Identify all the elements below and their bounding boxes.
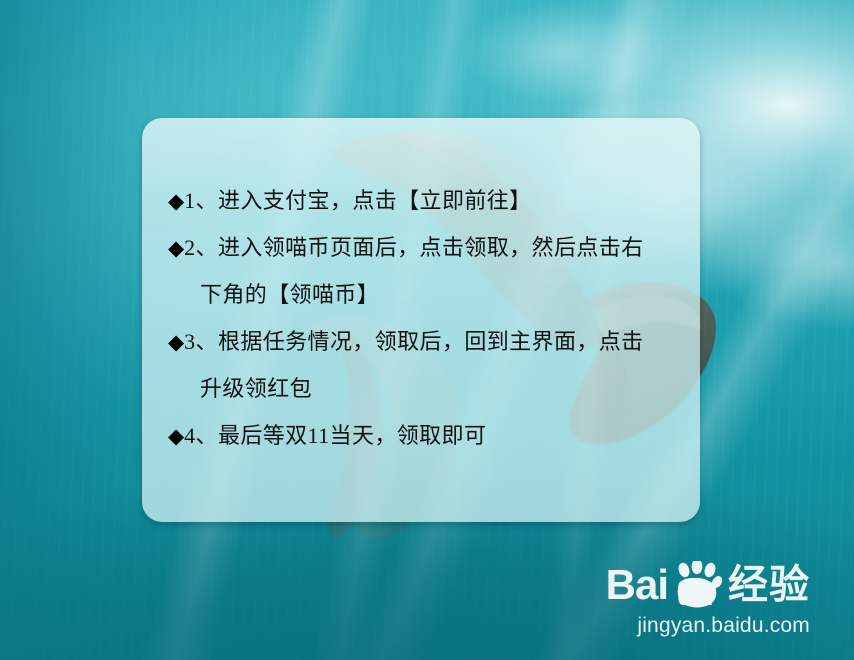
- diamond-bullet-icon: ◆: [168, 227, 184, 269]
- step-text: 4、最后等双11当天，领取即可: [184, 415, 674, 457]
- list-item: ◆ 3、根据任务情况，领取后，回到主界面，点击: [142, 321, 700, 363]
- diamond-bullet-icon: ◆: [168, 180, 184, 222]
- step-continuation: 下角的【领喵币】: [142, 274, 700, 316]
- step-text: 3、根据任务情况，领取后，回到主界面，点击: [184, 321, 674, 363]
- list-item: ◆ 2、进入领喵币页面后，点击领取，然后点击右: [142, 227, 700, 269]
- step-continuation: 升级领红包: [142, 368, 700, 410]
- slide-canvas: ◆ 1、进入支付宝，点击【立即前往】 ◆ 2、进入领喵币页面后，点击领取，然后点…: [0, 0, 854, 660]
- diamond-bullet-icon: ◆: [168, 415, 184, 457]
- step-text: 2、进入领喵币页面后，点击领取，然后点击右: [184, 227, 674, 269]
- step-text-continued: 下角的【领喵币】: [200, 274, 674, 316]
- list-item: ◆ 4、最后等双11当天，领取即可: [142, 415, 700, 457]
- step-text-continued: 升级领红包: [200, 368, 674, 410]
- diamond-bullet-icon: ◆: [168, 321, 184, 363]
- instruction-list: ◆ 1、进入支付宝，点击【立即前往】 ◆ 2、进入领喵币页面后，点击领取，然后点…: [142, 118, 700, 457]
- instruction-card: ◆ 1、进入支付宝，点击【立即前往】 ◆ 2、进入领喵币页面后，点击领取，然后点…: [142, 118, 700, 522]
- step-text: 1、进入支付宝，点击【立即前往】: [184, 180, 674, 222]
- list-item: ◆ 1、进入支付宝，点击【立即前往】: [142, 180, 700, 222]
